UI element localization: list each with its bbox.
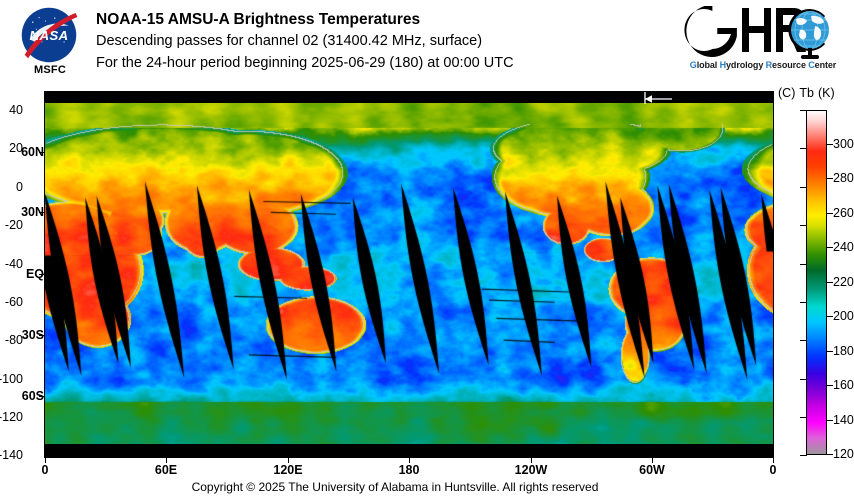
cb-tick-c--100 [800, 379, 807, 380]
colorbar-frame [806, 110, 827, 455]
cb-tick-c-40 [800, 110, 807, 111]
cb-label-c-20: 20 [0, 142, 23, 154]
cb-label-k-200: 200 [833, 310, 854, 322]
cb-tick-k-120 [826, 454, 833, 455]
colorbar-unit-kelvin: (K) [818, 86, 835, 100]
brightness-temperature-map[interactable] [45, 92, 773, 457]
cb-label-c--20: -20 [0, 219, 23, 231]
antarctic-data-gap-band [45, 444, 773, 457]
cb-label-k-160: 160 [833, 379, 854, 391]
cb-tick-k-240 [826, 247, 833, 248]
title-block: NOAA-15 AMSU-A Brightness Temperatures D… [96, 9, 676, 74]
cb-label-k-180: 180 [833, 345, 854, 357]
cb-label-c--120: -120 [0, 411, 23, 423]
nasa-meatball-icon: NASA [20, 6, 78, 64]
cb-tick-k-180 [826, 351, 833, 352]
lon-label-360: 0 [748, 463, 798, 477]
ghrc-tagline: Global Hydrology Resource Center [686, 60, 840, 70]
cb-label-c--40: -40 [0, 258, 23, 270]
left-arrow-marker-icon [641, 92, 675, 106]
cb-label-k-260: 260 [833, 207, 854, 219]
cb-tick-c--120 [800, 417, 807, 418]
page-title: NOAA-15 AMSU-A Brightness Temperatures [96, 9, 676, 30]
cb-tick-c--40 [800, 264, 807, 265]
nasa-logo: NASA MSFC [14, 6, 86, 82]
cb-label-k-300: 300 [833, 138, 854, 150]
colorbar[interactable] [806, 110, 827, 455]
colorbar-quantity-tb: Tb [799, 86, 814, 100]
cb-label-k-120: 120 [833, 448, 854, 460]
cb-label-c-0: 0 [0, 181, 23, 193]
lat-label-30N: 30N [4, 206, 44, 218]
cb-label-c--140: -140 [0, 449, 23, 461]
map-raster [45, 92, 773, 457]
lon-label-60E: 60E [141, 463, 191, 477]
lon-label-120E: 120E [263, 463, 313, 477]
cb-tick-k-260 [826, 213, 833, 214]
longitude-axis: 0 60E 120E 180 120W 60W 0 [45, 458, 775, 480]
cb-tick-k-140 [826, 420, 833, 421]
cb-tick-c--140 [800, 455, 807, 456]
cb-label-c--60: -60 [0, 296, 23, 308]
cb-tick-c-0 [800, 187, 807, 188]
cb-tick-c--80 [800, 340, 807, 341]
cb-tick-k-220 [826, 282, 833, 283]
cb-tick-c--60 [800, 302, 807, 303]
subtitle-channel: Descending passes for channel 02 (31400.… [96, 30, 676, 52]
colorbar-unit-celsius: (C) [778, 86, 795, 100]
cb-label-c--80: -80 [0, 334, 23, 346]
cb-tick-c--20 [800, 225, 807, 226]
cb-tick-k-280 [826, 178, 833, 179]
cb-label-k-220: 220 [833, 276, 854, 288]
lat-label-60S: 60S [4, 390, 44, 402]
cb-tick-k-160 [826, 385, 833, 386]
cb-label-k-140: 140 [833, 414, 854, 426]
copyright-notice: Copyright © 2025 The University of Alaba… [0, 480, 790, 494]
ghrc-logo: Global Hydrology Resource Center [684, 6, 840, 76]
cb-tick-k-300 [826, 144, 833, 145]
colorbar-header: (C)Tb(K) [778, 86, 839, 100]
cb-label-c-40: 40 [0, 104, 23, 116]
lon-label-120W: 120W [506, 463, 556, 477]
svg-text:NASA: NASA [30, 28, 69, 43]
ghrc-wordmark-icon [684, 6, 840, 62]
lon-label-60W: 60W [627, 463, 677, 477]
subtitle-period: For the 24-hour period beginning 2025-06… [96, 52, 676, 74]
cb-label-k-280: 280 [833, 172, 854, 184]
lon-label-0: 0 [20, 463, 70, 477]
nasa-center-label: MSFC [14, 64, 86, 76]
page-header: NASA MSFC NOAA-15 AMSU-A Brightness Temp… [0, 0, 854, 88]
cb-label-k-240: 240 [833, 241, 854, 253]
lon-label-180: 180 [384, 463, 434, 477]
cb-label-c--100: -100 [0, 373, 23, 385]
cb-tick-k-200 [826, 316, 833, 317]
cb-tick-c-20 [800, 148, 807, 149]
